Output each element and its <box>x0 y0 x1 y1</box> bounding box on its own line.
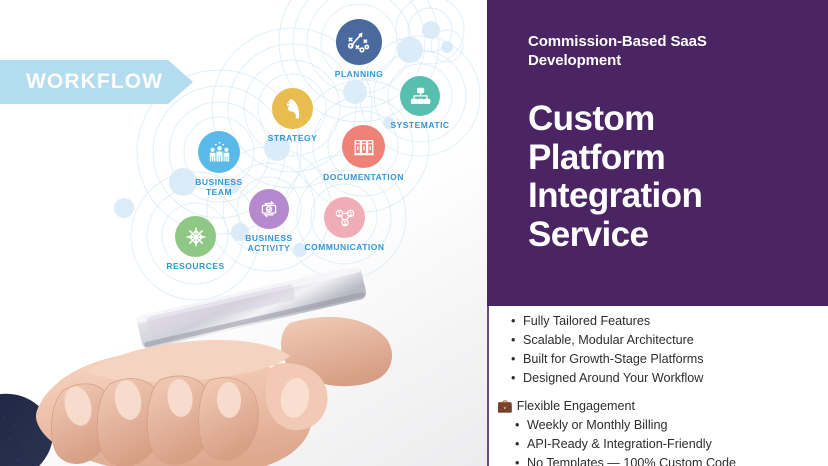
bullet-marker: • <box>511 369 523 388</box>
node-systematic[interactable]: SYSTEMATIC <box>400 76 440 116</box>
hero-block: Commission-Based SaaS Development Custom… <box>487 0 828 304</box>
node-strategy-label: STRATEGY <box>268 133 318 143</box>
three-people-icon <box>207 140 232 165</box>
secondary-feature-list: 💼 Flexible Engagement • Weekly or Monthl… <box>489 396 828 466</box>
promotional-poster: WORKFLOW PLANNING <box>0 0 828 466</box>
workflow-banner-label: WORKFLOW <box>26 60 176 104</box>
eyebrow-text: Commission-Based SaaS Development <box>528 32 798 70</box>
primary-feature-list: • Fully Tailored Features • Scalable, Mo… <box>489 312 828 388</box>
node-strategy[interactable]: STRATEGY <box>272 88 313 129</box>
list-item: • Built for Growth-Stage Platforms <box>489 350 828 369</box>
strategy-playbook-icon <box>346 29 372 55</box>
list-item: • Weekly or Monthly Billing <box>489 416 828 435</box>
node-planning-label: PLANNING <box>335 69 383 79</box>
node-resources[interactable]: RESOURCES <box>175 216 216 257</box>
list-item-label: Scalable, Modular Architecture <box>523 331 828 350</box>
bullet-marker: • <box>515 416 527 435</box>
node-business-activity-label: BUSINESS ACTIVITY <box>245 233 292 254</box>
chess-knight-icon <box>282 97 304 121</box>
bullet-marker: • <box>515 435 527 454</box>
page-title: Custom Platform Integration Service <box>528 100 818 254</box>
list-item: • No Templates — 100% Custom Code <box>489 454 828 466</box>
bullet-marker: • <box>511 312 523 331</box>
node-communication-label: COMMUNICATION <box>305 242 385 252</box>
title-line-4: Service <box>528 216 818 255</box>
title-line-3: Integration <box>528 177 818 216</box>
list-item-label: Designed Around Your Workflow <box>523 369 828 388</box>
flexible-engagement-label: Flexible Engagement <box>517 396 635 416</box>
feature-list-block: • Fully Tailored Features • Scalable, Mo… <box>487 306 828 466</box>
binders-archive-icon <box>352 135 376 159</box>
node-business-activity[interactable]: BUSINESS ACTIVITY <box>249 189 289 229</box>
flexible-engagement-heading: 💼 Flexible Engagement <box>489 396 828 416</box>
node-documentation-label: DOCUMENTATION <box>323 172 404 182</box>
bullet-marker: • <box>511 350 523 369</box>
title-line-2: Platform <box>528 139 818 178</box>
marketing-copy-panel: Commission-Based SaaS Development Custom… <box>487 0 828 466</box>
briefcase-icon: 💼 <box>497 396 513 416</box>
list-item-label: Weekly or Monthly Billing <box>527 416 828 435</box>
list-item: • Scalable, Modular Architecture <box>489 331 828 350</box>
bullet-marker: • <box>511 331 523 350</box>
hand-holding-phone-photo <box>0 268 410 466</box>
node-systematic-label: SYSTEMATIC <box>390 120 449 130</box>
network-nodes-icon <box>333 206 357 230</box>
node-planning[interactable]: PLANNING <box>336 19 382 65</box>
list-item-label: Built for Growth-Stage Platforms <box>523 350 828 369</box>
node-documentation[interactable]: DOCUMENTATION <box>342 125 385 168</box>
workflow-illustration-panel: WORKFLOW PLANNING <box>0 0 487 466</box>
bullet-marker: • <box>515 454 527 466</box>
list-item-label: Fully Tailored Features <box>523 312 828 331</box>
org-chart-icon <box>409 85 432 108</box>
node-business-team[interactable]: BUSINESS TEAM <box>198 131 240 173</box>
list-item-label: API-Ready & Integration-Friendly <box>527 435 828 454</box>
node-communication[interactable]: COMMUNICATION <box>324 197 365 238</box>
list-item-label: No Templates — 100% Custom Code <box>527 454 828 466</box>
list-item: • API-Ready & Integration-Friendly <box>489 435 828 454</box>
node-business-team-label: BUSINESS TEAM <box>195 177 242 198</box>
list-item: • Fully Tailored Features <box>489 312 828 331</box>
starburst-icon <box>184 225 208 249</box>
recycle-check-icon <box>257 197 281 221</box>
list-item: • Designed Around Your Workflow <box>489 369 828 388</box>
title-line-1: Custom <box>528 100 818 139</box>
